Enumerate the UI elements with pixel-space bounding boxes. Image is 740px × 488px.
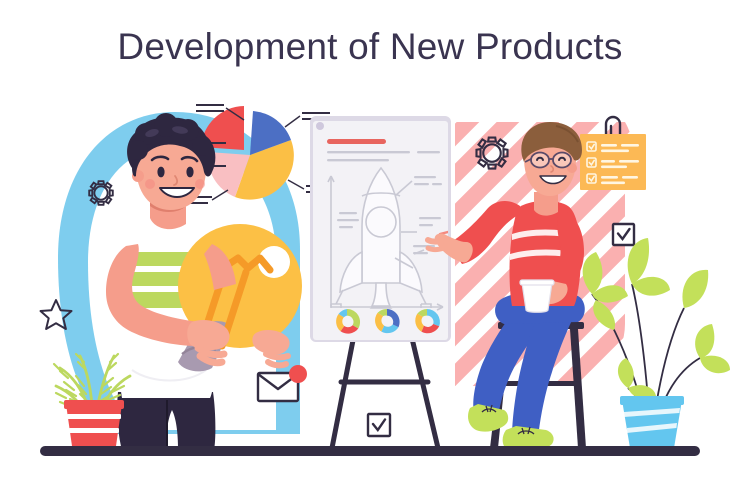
envelope-badge (289, 365, 307, 383)
illustration-canvas: Development of New Products (0, 0, 740, 488)
coffee-cup (520, 280, 554, 312)
floor-line (40, 446, 700, 456)
plant-pot (64, 400, 124, 448)
checkbox-checked-icon (613, 224, 634, 245)
board-title-bar (327, 139, 386, 144)
checkbox-checked-icon (368, 414, 390, 436)
flipchart (310, 116, 460, 448)
board-clip (316, 122, 324, 130)
shoe-far (468, 404, 508, 432)
plant-pot (620, 396, 684, 448)
illustration-svg (0, 0, 740, 488)
